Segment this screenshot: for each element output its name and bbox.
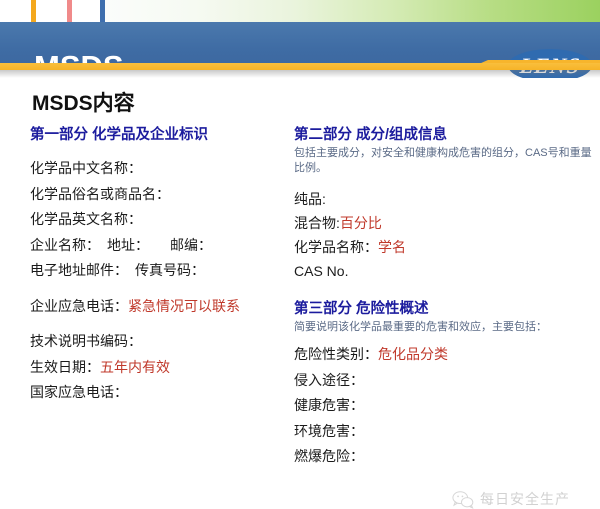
field-mixture: 混合物:百分比	[294, 211, 594, 235]
field-label: 化学品中文名称：	[30, 160, 142, 176]
field-label: CAS No.	[294, 263, 348, 279]
field-company-address-zip: 企业名称： 地址： 邮编：	[30, 233, 285, 259]
field-value: 百分比	[340, 215, 382, 231]
field-label: 化学品俗名或商品名：	[30, 186, 170, 202]
spacer	[294, 335, 594, 342]
field-label: 电子地址邮件： 传真号码：	[30, 262, 205, 278]
field-value: 学名	[378, 239, 406, 255]
top-decorative-strip	[0, 0, 600, 22]
strip-gradient-band	[105, 0, 600, 22]
field-effective-date: 生效日期：五年内有效	[30, 355, 285, 381]
field-label: 企业名称： 地址： 邮编：	[30, 237, 212, 253]
field-label: 化学品名称：	[294, 239, 378, 255]
slide-title: MSDS内容	[32, 87, 135, 117]
header-shadow	[0, 70, 600, 78]
field-value: 五年内有效	[100, 359, 170, 375]
spacer	[294, 283, 594, 299]
field-national-emergency-phone: 国家应急电话：	[30, 380, 285, 406]
field-chem-name-cn: 化学品中文名称：	[30, 156, 285, 182]
section-three-description: 简要说明该化学品最重要的危害和效应，主要包括：	[294, 320, 594, 335]
left-column: 第一部分 化学品及企业标识 化学品中文名称： 化学品俗名或商品名： 化学品英文名…	[30, 125, 285, 406]
field-label: 纯品:	[294, 191, 326, 207]
field-chemical-name: 化学品名称：学名	[294, 235, 594, 259]
spacer	[30, 145, 285, 156]
section-three-heading: 第三部分 危险性概述	[294, 299, 594, 319]
field-label: 混合物:	[294, 215, 340, 231]
field-pure-substance: 纯品:	[294, 187, 594, 211]
section-two-description: 包括主要成分，对安全和健康构成危害的组分，CAS号和重量比例。	[294, 146, 594, 176]
watermark-text: 每日安全生产	[480, 489, 570, 509]
field-tech-doc-code: 技术说明书编码：	[30, 329, 285, 355]
field-email-fax: 电子地址邮件： 传真号码：	[30, 258, 285, 284]
section-one-heading: 第一部分 化学品及企业标识	[30, 125, 285, 145]
field-health-hazard: 健康危害：	[294, 393, 594, 419]
field-label: 环境危害：	[294, 423, 364, 439]
field-route-of-entry: 侵入途径：	[294, 368, 594, 394]
field-cas-no: CAS No.	[294, 259, 594, 283]
field-environmental-hazard: 环境危害：	[294, 419, 594, 445]
field-label: 化学品英文名称：	[30, 211, 142, 227]
field-label: 企业应急电话：	[30, 298, 128, 314]
field-label: 健康危害：	[294, 397, 364, 413]
strip-tick-orange	[31, 0, 36, 22]
slide-content: MSDS内容 第一部分 化学品及企业标识 化学品中文名称： 化学品俗名或商品名：…	[0, 78, 600, 450]
field-chem-name-en: 化学品英文名称：	[30, 207, 285, 233]
section-two-heading: 第二部分 成分/组成信息	[294, 125, 594, 145]
field-label: 生效日期：	[30, 359, 100, 375]
field-label: 燃爆危险：	[294, 448, 364, 464]
field-chem-common-name: 化学品俗名或商品名：	[30, 182, 285, 208]
spacer	[294, 176, 594, 187]
strip-tick-pink	[67, 0, 72, 22]
field-label: 国家应急电话：	[30, 384, 128, 400]
header-orange-band	[0, 63, 600, 70]
field-value: 紧急情况可以联系	[128, 298, 240, 314]
field-explosion-hazard: 燃爆危险：	[294, 444, 594, 470]
field-label: 侵入途径：	[294, 372, 364, 388]
field-label: 危险性类别：	[294, 346, 378, 362]
field-value: 危化品分类	[378, 346, 448, 362]
watermark: 每日安全生产	[452, 489, 570, 509]
field-hazard-category: 危险性类别：危化品分类	[294, 342, 594, 368]
field-company-emergency-phone: 企业应急电话：紧急情况可以联系	[30, 294, 285, 320]
wechat-icon	[452, 490, 474, 509]
right-column: 第二部分 成分/组成信息 包括主要成分，对安全和健康构成危害的组分，CAS号和重…	[294, 125, 594, 470]
field-label: 技术说明书编码：	[30, 333, 142, 349]
